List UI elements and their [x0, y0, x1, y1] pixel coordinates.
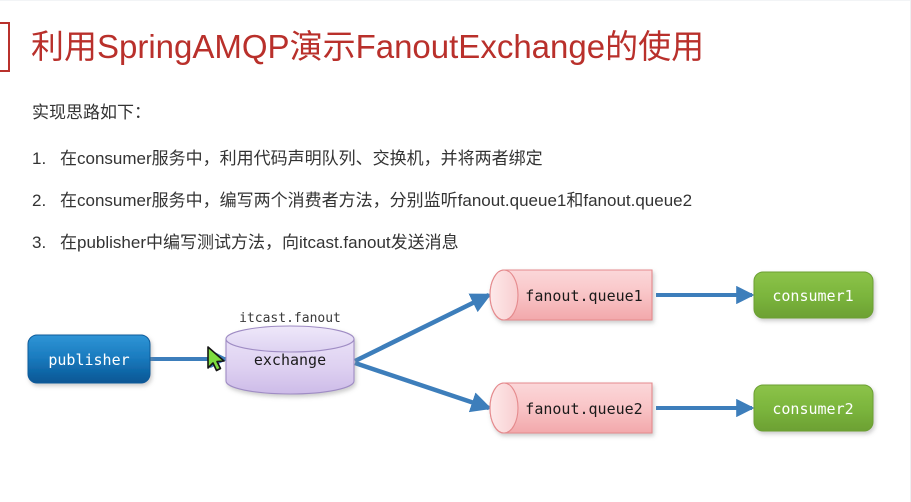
step-text: 在consumer服务中，利用代码声明队列、交换机，并将两者绑定 [60, 149, 543, 168]
exchange-label: exchange [254, 351, 326, 369]
exchange-caption: itcast.fanout [239, 311, 341, 326]
intro-text: 实现思路如下： [32, 101, 151, 125]
page-title: 利用SpringAMQP演示FanoutExchange的使用 [31, 24, 704, 70]
publisher-label: publisher [48, 351, 129, 369]
step-number: 2. [32, 189, 60, 213]
node-publisher[interactable]: publisher [28, 335, 150, 383]
step-number: 3. [32, 231, 60, 255]
consumer-2-label: consumer2 [772, 400, 853, 418]
step-item-3: 3.在publisher中编写测试方法，向itcast.fanout发送消息 [32, 231, 459, 255]
queue-2-label: fanout.queue2 [525, 400, 642, 418]
node-queue-2[interactable]: fanout.queue2 [490, 383, 652, 433]
mouse-pointer-icon [208, 347, 224, 371]
step-number: 1. [32, 147, 60, 171]
node-consumer-2[interactable]: consumer2 [754, 385, 873, 431]
connector-exchange-to-queue1 [355, 295, 489, 361]
node-queue-1[interactable]: fanout.queue1 [490, 270, 652, 320]
queue-1-label: fanout.queue1 [525, 287, 642, 305]
step-item-2: 2.在consumer服务中，编写两个消费者方法，分别监听fanout.queu… [32, 189, 692, 213]
step-item-1: 1.在consumer服务中，利用代码声明队列、交换机，并将两者绑定 [32, 147, 543, 171]
title-bracket-decoration [0, 22, 10, 72]
top-divider [0, 0, 911, 1]
step-text: 在publisher中编写测试方法，向itcast.fanout发送消息 [60, 233, 459, 252]
node-exchange[interactable]: itcast.fanout exchange [226, 311, 354, 394]
slide-canvas: 利用SpringAMQP演示FanoutExchange的使用 实现思路如下： … [0, 0, 911, 502]
connector-exchange-to-queue2 [355, 363, 489, 408]
node-consumer-1[interactable]: consumer1 [754, 272, 873, 318]
fanout-architecture-diagram: publisher itcast.fanout exchange fanout.… [0, 255, 911, 455]
consumer-1-label: consumer1 [772, 287, 853, 305]
step-text: 在consumer服务中，编写两个消费者方法，分别监听fanout.queue1… [60, 191, 692, 210]
